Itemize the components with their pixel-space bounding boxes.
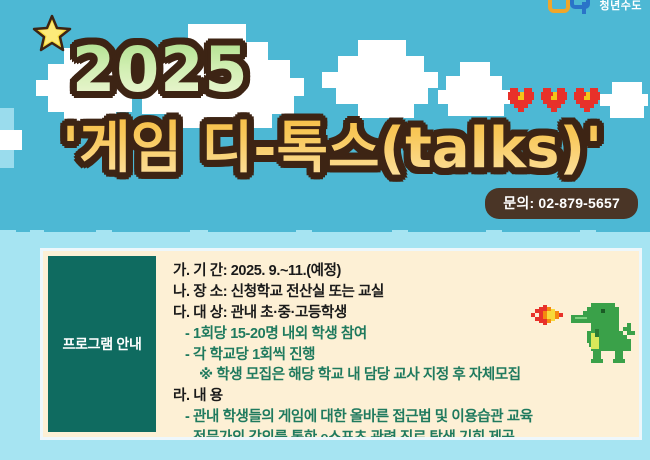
dinosaur-icon bbox=[529, 299, 635, 369]
info-line: - 전문가의 강의를 통한 e스포츠 관련 진로 탐색 기회 제공 bbox=[173, 428, 629, 440]
card-body: 가. 기 간: 2025. 9.~11.(예정) 나. 장 소: 신청학교 전산… bbox=[161, 251, 639, 437]
info-line: 가. 기 간: 2025. 9.~11.(예정) bbox=[173, 261, 629, 282]
title-year: 2025 bbox=[72, 33, 249, 106]
pixel-transition-band bbox=[0, 222, 650, 244]
contact-phone-badge: 문의: 02-879-5657 bbox=[485, 188, 638, 219]
card-label: 프로그램 안내 bbox=[48, 256, 156, 432]
star-icon bbox=[32, 14, 72, 52]
fire-breath-icon bbox=[531, 305, 563, 325]
logo-text: 청년수도 bbox=[600, 0, 642, 13]
program-info-card: 프로그램 안내 가. 기 간: 2025. 9.~11.(예정) 나. 장 소:… bbox=[40, 248, 642, 440]
poster-root: 청년수도 2025 '게임 디-톡스(talks)' 문의: 02-879-56… bbox=[0, 0, 650, 460]
title-main: '게임 디-톡스(talks)' bbox=[62, 103, 602, 184]
organization-logo: 청년수도 bbox=[548, 0, 642, 18]
info-line: 라. 내 용 bbox=[173, 386, 629, 407]
info-line: - 관내 학생들의 게임에 대한 올바른 접근법 및 이용습관 교육 bbox=[173, 407, 629, 428]
seongdong-logo-icon bbox=[548, 0, 594, 18]
